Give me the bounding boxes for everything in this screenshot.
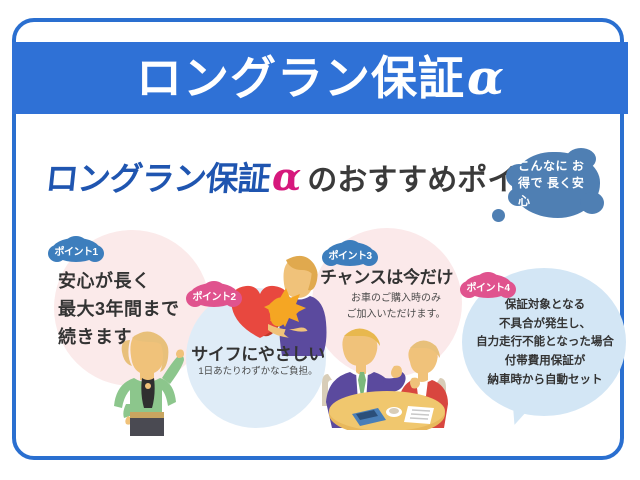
point-3-subtext: お車のご購入時のみ ご加入いただけます。 — [326, 291, 466, 322]
point-1-badge: ポイント1 — [48, 236, 104, 264]
subheading-brand: ロングラン保証 — [43, 152, 272, 200]
subheading-alpha: α — [272, 154, 301, 199]
couple-at-table-illustration — [312, 322, 462, 430]
point-1-title: 安心が長く 最大3年間まで 続きます — [58, 268, 208, 352]
point-2-subtext: 1日あたりわずかなご負担。 — [188, 366, 328, 378]
point-3-title: チャンスは今だけ — [320, 268, 468, 288]
point-3-badge-label: ポイント3 — [322, 240, 378, 268]
point-3-badge: ポイント3 — [322, 240, 378, 268]
subheading: ロングラン保証 α のおすすめポイント — [46, 152, 577, 200]
point-4-title: 保証対象となる 不具合が発生し、 自力走行不能となった場合 付帯費用保証が 納車… — [462, 296, 628, 389]
point-2-title: サイフにやさしい — [188, 345, 328, 365]
main-title: ロングラン保証 — [136, 55, 465, 101]
thought-bubble-text: こんなに お得で 長く安心 — [518, 158, 596, 210]
main-title-alpha: α — [467, 50, 504, 106]
thought-bubble-dot — [492, 209, 505, 222]
poster-canvas: ロングラン保証α ロングラン保証 α のおすすめポイント こんなに お得で 長く… — [0, 0, 640, 480]
point-1-badge-label: ポイント1 — [48, 236, 104, 264]
title-banner: ロングラン保証α — [12, 42, 628, 114]
